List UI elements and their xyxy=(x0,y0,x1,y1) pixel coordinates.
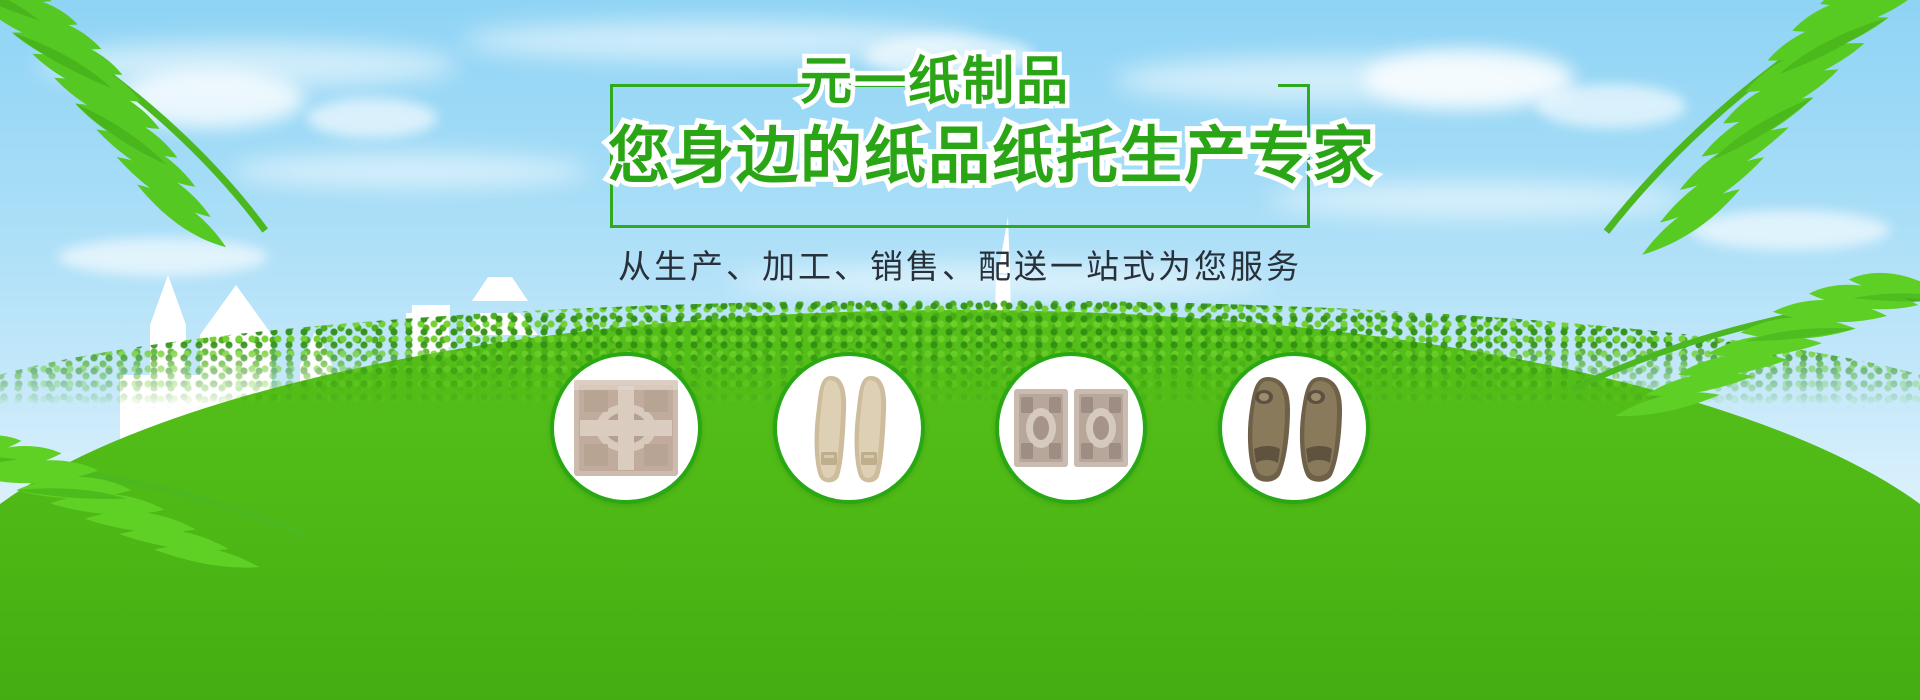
palm-frond-icon xyxy=(0,0,350,260)
palm-frond-icon xyxy=(1540,190,1920,490)
product-showcase xyxy=(550,352,1370,512)
product-circle-paper-pulp-packaging-tray[interactable] xyxy=(550,352,702,504)
product-circle-molded-shoe-form-pair[interactable] xyxy=(1218,352,1370,504)
product-circle-pulp-molded-tray-pair[interactable] xyxy=(995,352,1147,504)
headline-frame: 元一纸制品 您身边的纸品纸托生产专家 xyxy=(610,84,1310,228)
brand-name: 元一纸制品 xyxy=(800,56,1070,108)
palm-frond-icon xyxy=(1520,0,1920,270)
palm-frond-icon xyxy=(0,330,330,630)
page-title: 您身边的纸品纸托生产专家 xyxy=(608,126,1312,188)
product-circle-paper-shoe-insert-pair[interactable] xyxy=(773,352,925,504)
promo-banner: 元一纸制品 您身边的纸品纸托生产专家 从生产、加工、销售、配送一站式为您服务 xyxy=(0,0,1920,700)
banner-subtitle: 从生产、加工、销售、配送一站式为您服务 xyxy=(618,240,1302,288)
frame-top-right-rule xyxy=(1278,84,1310,87)
